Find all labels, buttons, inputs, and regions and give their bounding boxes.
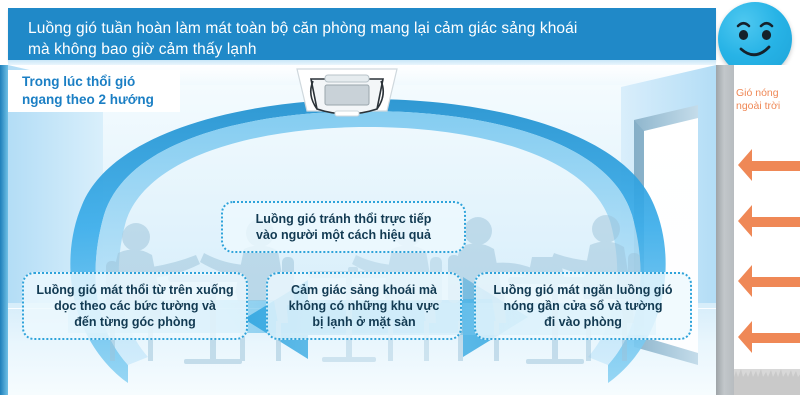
hot-air-arrow-up-1 — [738, 149, 800, 181]
infographic-canvas: Luồng gió tuần hoàn làm mát toàn bộ căn … — [0, 0, 800, 400]
callout-box-right: Luồng gió mát ngăn luồng gió nóng gần cử… — [474, 272, 692, 340]
hot-air-arrows — [716, 65, 800, 395]
page-title: Luồng gió tuần hoàn làm mát toàn bộ căn … — [28, 18, 718, 60]
mode-label: Trong lúc thổi gió ngang theo 2 hướng — [8, 70, 180, 112]
air-conditioner-icon — [291, 67, 403, 129]
callout-box-top: Luồng gió tránh thổi trực tiếp vào người… — [221, 201, 466, 253]
room-scene: Luồng gió tránh thổi trực tiếp vào người… — [8, 65, 716, 395]
hot-air-arrow-up-2 — [738, 205, 800, 237]
callout-text: Luồng gió mát ngăn luồng gió nóng gần cử… — [493, 282, 672, 330]
hot-air-arrow-down-2 — [738, 321, 800, 353]
outdoor-panel: Gió nóng ngoài trời — [716, 65, 800, 395]
callout-text: Luồng gió mát thổi từ trên xuống dọc the… — [36, 282, 233, 330]
callout-text: Cảm giác sảng khoái mà không có những kh… — [289, 282, 440, 330]
header-banner: Luồng gió tuần hoàn làm mát toàn bộ căn … — [8, 8, 716, 60]
callout-text: Luồng gió tránh thổi trực tiếp vào người… — [256, 211, 432, 243]
hot-air-arrow-down-1 — [738, 265, 800, 297]
callout-box-middle: Cảm giác sảng khoái mà không có những kh… — [266, 272, 462, 340]
ceiling-cassette-air-conditioner — [291, 67, 403, 129]
callout-box-left: Luồng gió mát thổi từ trên xuống dọc the… — [22, 272, 248, 340]
left-frame-edge — [0, 65, 8, 395]
bottom-frame-edge — [0, 395, 800, 400]
